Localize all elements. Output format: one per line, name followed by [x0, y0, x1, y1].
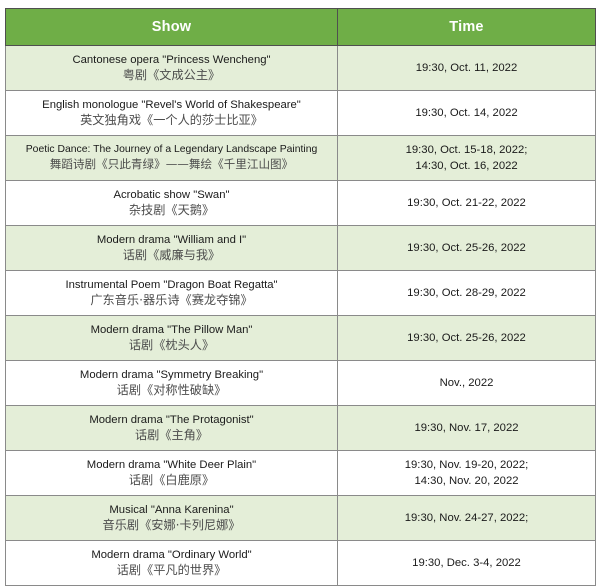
show-cell: Cantonese opera "Princess Wencheng"粤剧《文成…: [6, 46, 338, 91]
time-line: 19:30, Nov. 17, 2022: [342, 420, 591, 436]
show-cell: Poetic Dance: The Journey of a Legendary…: [6, 136, 338, 181]
time-line: 19:30, Oct. 25-26, 2022: [342, 240, 591, 256]
show-cell: Instrumental Poem "Dragon Boat Regatta"广…: [6, 271, 338, 316]
show-title-en: Acrobatic show "Swan": [10, 188, 333, 203]
show-cell: Modern drama "The Protagonist"话剧《主角》: [6, 406, 338, 451]
show-title-zh: 话剧《对称性破缺》: [10, 382, 333, 398]
time-line: 14:30, Nov. 20, 2022: [342, 473, 591, 489]
show-title-en: Modern drama "The Pillow Man": [10, 323, 333, 338]
time-line: 19:30, Nov. 24-27, 2022;: [342, 510, 591, 526]
show-cell: Acrobatic show "Swan"杂技剧《天鹅》: [6, 181, 338, 226]
show-title-en: Modern drama "Ordinary World": [10, 548, 333, 563]
table-row: Modern drama "William and I"话剧《威廉与我》19:3…: [6, 226, 596, 271]
show-title-zh: 英文独角戏《一个人的莎士比亚》: [10, 112, 333, 128]
time-cell: 19:30, Nov. 19-20, 2022;14:30, Nov. 20, …: [338, 451, 596, 496]
time-line: 19:30, Oct. 25-26, 2022: [342, 330, 591, 346]
table-row: Poetic Dance: The Journey of a Legendary…: [6, 136, 596, 181]
show-cell: Musical "Anna Karenina"音乐剧《安娜·卡列尼娜》: [6, 496, 338, 541]
time-line: 19:30, Nov. 19-20, 2022;: [342, 457, 591, 473]
show-title-zh: 音乐剧《安娜·卡列尼娜》: [10, 517, 333, 533]
show-title-zh: 话剧《平凡的世界》: [10, 562, 333, 578]
time-cell: 19:30, Oct. 28-29, 2022: [338, 271, 596, 316]
table-row: Modern drama "Ordinary World"话剧《平凡的世界》19…: [6, 541, 596, 586]
show-title-zh: 话剧《威廉与我》: [10, 247, 333, 263]
show-title-en: Modern drama "The Protagonist": [10, 413, 333, 428]
time-line: 19:30, Oct. 11, 2022: [342, 60, 591, 76]
time-cell: 19:30, Oct. 25-26, 2022: [338, 316, 596, 361]
time-cell: 19:30, Nov. 17, 2022: [338, 406, 596, 451]
time-cell: 19:30, Oct. 15-18, 2022;14:30, Oct. 16, …: [338, 136, 596, 181]
show-title-zh: 杂技剧《天鹅》: [10, 202, 333, 218]
show-title-en: Modern drama "William and I": [10, 233, 333, 248]
show-title-en: Musical "Anna Karenina": [10, 503, 333, 518]
show-title-zh: 舞蹈诗剧《只此青绿》——舞绘《千里江山图》: [10, 157, 333, 172]
show-title-zh: 广东音乐·器乐诗《赛龙夺锦》: [10, 292, 333, 308]
time-cell: 19:30, Oct. 11, 2022: [338, 46, 596, 91]
show-cell: Modern drama "Ordinary World"话剧《平凡的世界》: [6, 541, 338, 586]
time-cell: 19:30, Oct. 14, 2022: [338, 91, 596, 136]
schedule-sheet: Show Time Cantonese opera "Princess Wenc…: [0, 0, 600, 536]
table-row: Acrobatic show "Swan"杂技剧《天鹅》19:30, Oct. …: [6, 181, 596, 226]
show-title-zh: 话剧《枕头人》: [10, 337, 333, 353]
time-line: Nov., 2022: [342, 375, 591, 391]
time-line: 19:30, Oct. 15-18, 2022;: [342, 142, 591, 158]
show-cell: Modern drama "The Pillow Man"话剧《枕头人》: [6, 316, 338, 361]
show-title-en: Instrumental Poem "Dragon Boat Regatta": [10, 278, 333, 293]
column-header-show: Show: [6, 9, 338, 46]
time-cell: 19:30, Oct. 25-26, 2022: [338, 226, 596, 271]
show-cell: English monologue "Revel's World of Shak…: [6, 91, 338, 136]
show-cell: Modern drama "Symmetry Breaking"话剧《对称性破缺…: [6, 361, 338, 406]
table-row: Modern drama "Symmetry Breaking"话剧《对称性破缺…: [6, 361, 596, 406]
column-header-time: Time: [338, 9, 596, 46]
time-cell: 19:30, Dec. 3-4, 2022: [338, 541, 596, 586]
table-row: Modern drama "White Deer Plain"话剧《白鹿原》19…: [6, 451, 596, 496]
show-title-en: Modern drama "Symmetry Breaking": [10, 368, 333, 383]
time-line: 19:30, Oct. 14, 2022: [342, 105, 591, 121]
table-row: Instrumental Poem "Dragon Boat Regatta"广…: [6, 271, 596, 316]
table-row: Cantonese opera "Princess Wencheng"粤剧《文成…: [6, 46, 596, 91]
time-cell: Nov., 2022: [338, 361, 596, 406]
show-title-en: Modern drama "White Deer Plain": [10, 458, 333, 473]
show-cell: Modern drama "William and I"话剧《威廉与我》: [6, 226, 338, 271]
show-title-en: Cantonese opera "Princess Wencheng": [10, 53, 333, 68]
table-body: Cantonese opera "Princess Wencheng"粤剧《文成…: [6, 46, 596, 586]
show-title-zh: 粤剧《文成公主》: [10, 67, 333, 83]
show-cell: Modern drama "White Deer Plain"话剧《白鹿原》: [6, 451, 338, 496]
table-header: Show Time: [6, 9, 596, 46]
table-row: Musical "Anna Karenina"音乐剧《安娜·卡列尼娜》19:30…: [6, 496, 596, 541]
time-line: 19:30, Oct. 21-22, 2022: [342, 195, 591, 211]
time-line: 19:30, Dec. 3-4, 2022: [342, 555, 591, 571]
show-title-zh: 话剧《白鹿原》: [10, 472, 333, 488]
time-cell: 19:30, Nov. 24-27, 2022;: [338, 496, 596, 541]
show-title-zh: 话剧《主角》: [10, 427, 333, 443]
show-title-en: English monologue "Revel's World of Shak…: [10, 98, 333, 113]
time-line: 19:30, Oct. 28-29, 2022: [342, 285, 591, 301]
table-row: English monologue "Revel's World of Shak…: [6, 91, 596, 136]
time-line: 14:30, Oct. 16, 2022: [342, 158, 591, 174]
time-cell: 19:30, Oct. 21-22, 2022: [338, 181, 596, 226]
show-schedule-table: Show Time Cantonese opera "Princess Wenc…: [5, 8, 596, 586]
show-title-en: Poetic Dance: The Journey of a Legendary…: [10, 143, 333, 157]
header-row: Show Time: [6, 9, 596, 46]
table-row: Modern drama "The Pillow Man"话剧《枕头人》19:3…: [6, 316, 596, 361]
table-row: Modern drama "The Protagonist"话剧《主角》19:3…: [6, 406, 596, 451]
